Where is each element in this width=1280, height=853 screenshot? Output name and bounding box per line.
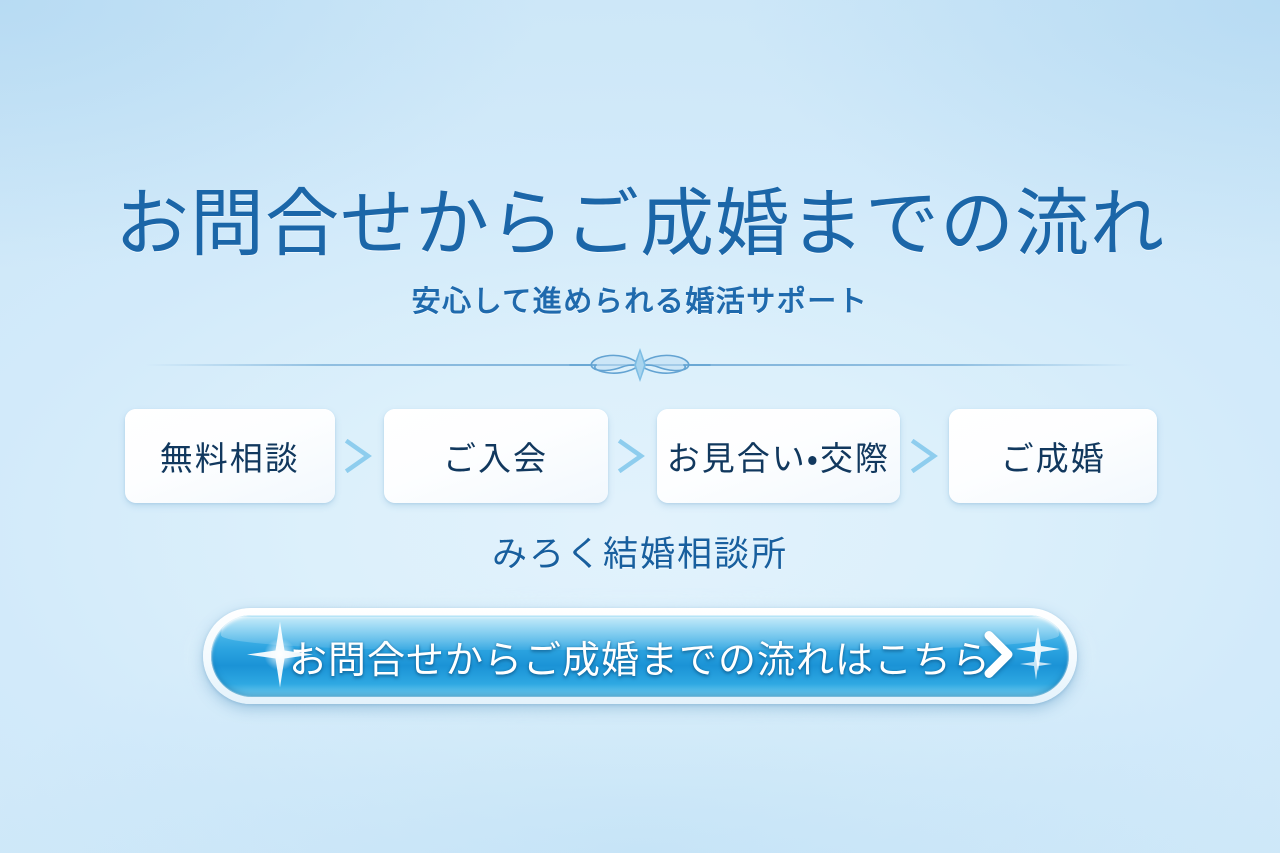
page-title: お問合せからご成婚までの流れ bbox=[0, 186, 1280, 266]
chevron-right-icon bbox=[981, 631, 1015, 682]
flow-step-label: 無料相談 bbox=[160, 432, 300, 480]
page-subtitle: 安心して進められる婚活サポート bbox=[0, 278, 1280, 320]
chevron-right-icon bbox=[344, 439, 374, 473]
flow-step-label: ご入会 bbox=[443, 432, 548, 480]
flourish-ornament-icon bbox=[540, 345, 740, 385]
flow-step-3[interactable]: お見合い・交際 bbox=[657, 409, 901, 503]
flow-separator-2 bbox=[608, 409, 657, 503]
flow-separator-1 bbox=[335, 409, 384, 503]
flow-step-label: お見合い・交際 bbox=[667, 432, 890, 480]
sparkle-star-icon bbox=[1019, 647, 1053, 684]
flow-step-2[interactable]: ご入会 bbox=[384, 409, 608, 503]
flow-steps: 無料相談 ご入会 お見合い・交際 ご成婚 bbox=[125, 409, 1157, 503]
chevron-right-icon bbox=[910, 439, 940, 473]
ornamental-divider bbox=[145, 345, 1135, 385]
flow-step-1[interactable]: 無料相談 bbox=[125, 409, 335, 503]
sparkle-star-icon bbox=[1015, 626, 1061, 675]
cta-button[interactable]: お問合せからご成婚までの流れはこちら bbox=[211, 615, 1069, 697]
flow-separator-3 bbox=[900, 409, 949, 503]
cta-button-label: お問合せからご成婚までの流れはこちら bbox=[289, 629, 991, 684]
cta-container: お問合せからご成婚までの流れはこちら bbox=[203, 608, 1077, 704]
flow-step-label: ご成婚 bbox=[1001, 432, 1106, 480]
page-content: お問合せからご成婚までの流れ 安心して進められる婚活サポート 無料相談 bbox=[0, 0, 1280, 853]
agency-name: みろく結婚相談所 bbox=[0, 526, 1280, 577]
chevron-right-icon bbox=[617, 439, 647, 473]
flow-step-4[interactable]: ご成婚 bbox=[949, 409, 1157, 503]
